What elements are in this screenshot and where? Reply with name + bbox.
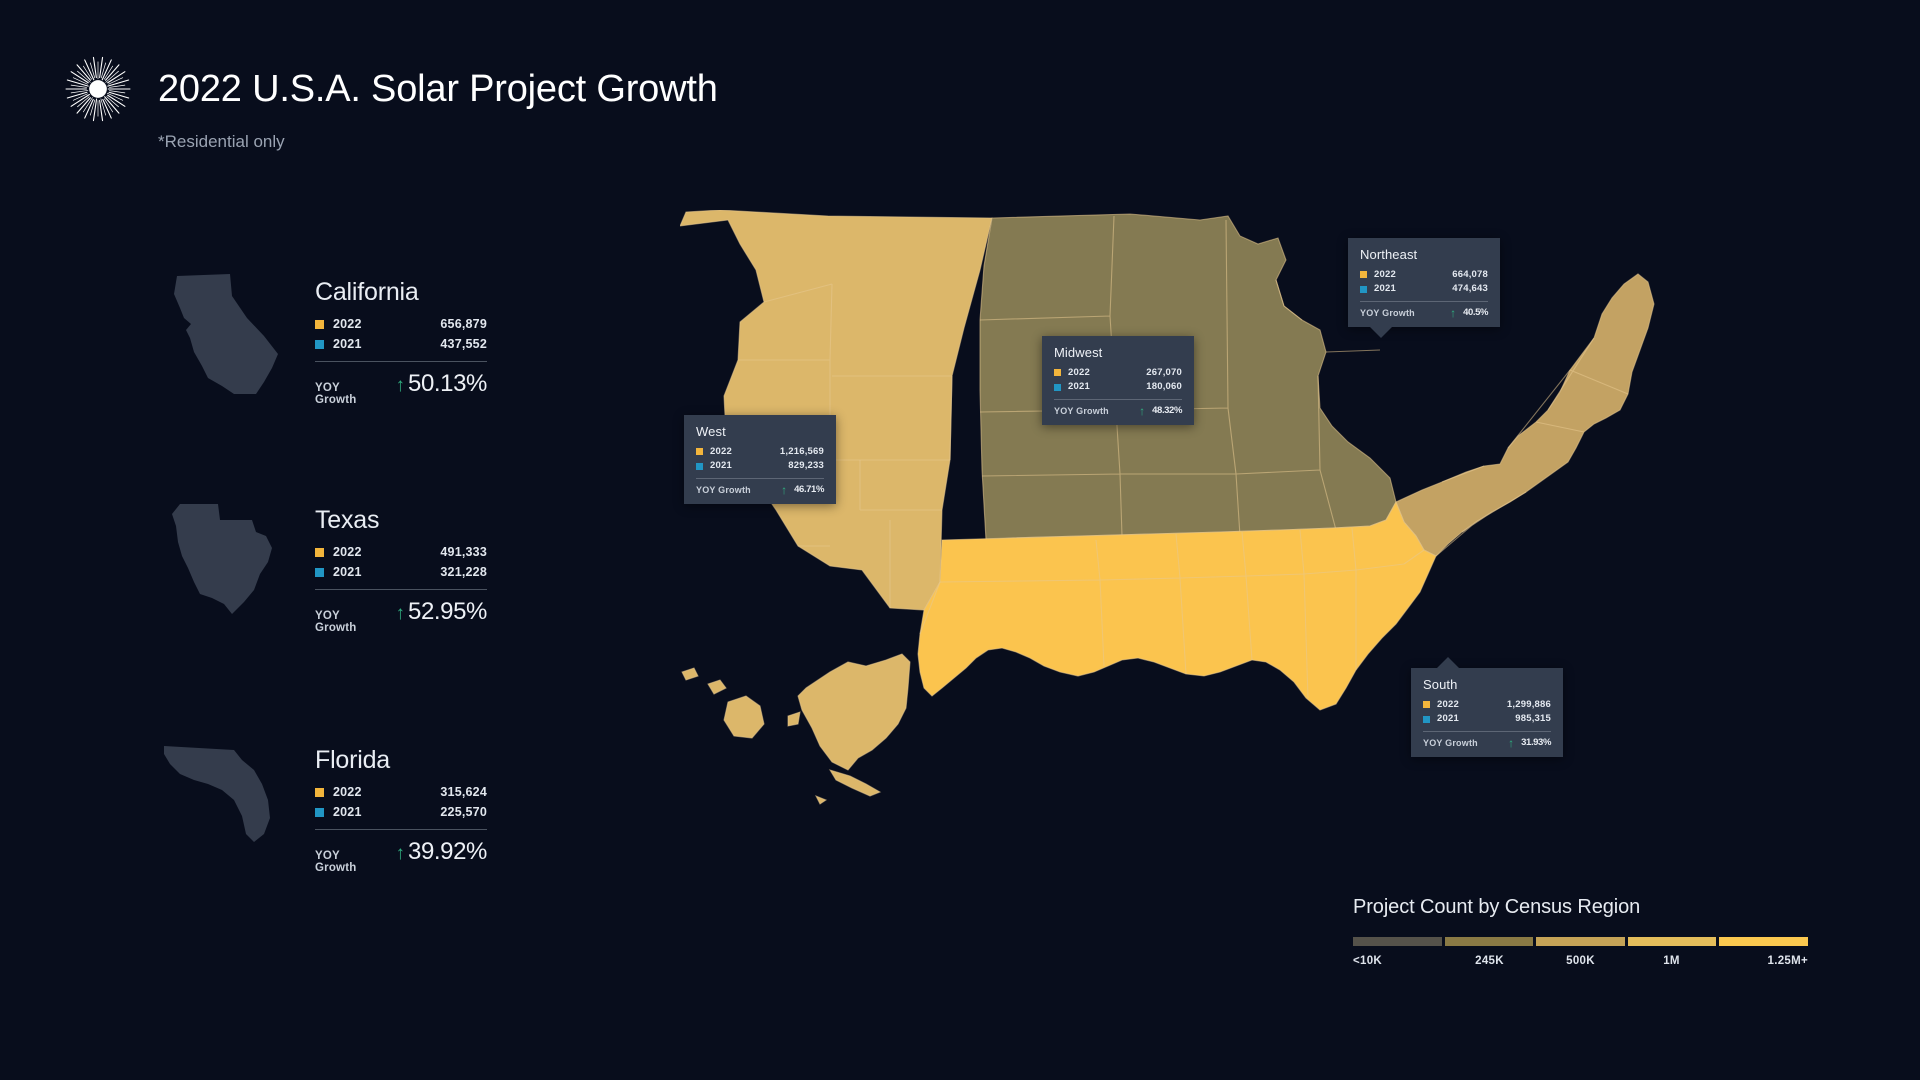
year-label: 2021 (710, 460, 732, 471)
legend-swatch-2021 (315, 340, 324, 349)
legend-swatch-2021 (315, 808, 324, 817)
legend-swatch-0 (1353, 937, 1442, 946)
legend-swatch-2022 (315, 320, 324, 329)
state-name: Texas (315, 506, 487, 535)
legend-tick-labels: <10K245K500K1M1.25M+ (1353, 955, 1808, 967)
year-value: 267,070 (1146, 367, 1182, 378)
state-growth-row: YOY Growth ↑ 39.92% (315, 838, 487, 874)
dashboard-canvas: 2022 U.S.A. Solar Project Growth *Reside… (0, 0, 1920, 1080)
year-label: 2022 (333, 317, 362, 332)
texas-outline-icon (160, 498, 290, 633)
legend-tick-2: 500K (1535, 955, 1626, 967)
tooltip-midwest[interactable]: Midwest 2022 267,070 2021 180,060 YOY Gr… (1042, 336, 1194, 425)
tooltip-row-2022: 2022 1,216,569 (696, 446, 824, 457)
year-value: 474,643 (1452, 283, 1488, 294)
legend-swatch-2022 (1360, 271, 1367, 278)
growth-up-arrow-icon: ↑ (1508, 737, 1514, 749)
year-value: 321,228 (440, 565, 487, 580)
sunburst-logo-icon (64, 55, 132, 123)
year-label: 2022 (333, 545, 362, 560)
legend-title: Project Count by Census Region (1353, 896, 1808, 919)
growth-label: YOY Growth (315, 610, 382, 634)
legend-tick-0: <10K (1353, 955, 1444, 967)
legend-swatch-2022 (1423, 701, 1430, 708)
year-label: 2022 (1437, 699, 1459, 710)
year-value: 491,333 (440, 545, 487, 560)
growth-label: YOY Growth (315, 850, 382, 874)
legend-swatch-4 (1719, 937, 1808, 946)
tooltip-growth-row: YOY Growth ↑ 40.5% (1360, 307, 1488, 319)
growth-up-arrow-icon: ↑ (1139, 405, 1145, 417)
tooltip-region-name: Midwest (1054, 345, 1182, 360)
legend-swatch-2022 (315, 548, 324, 557)
legend-swatch-2021 (1423, 716, 1430, 723)
map-region-west[interactable] (680, 210, 992, 804)
year-value: 315,624 (440, 785, 487, 800)
year-value: 664,078 (1452, 269, 1488, 280)
growth-value: 46.71% (794, 484, 824, 495)
year-label: 2021 (333, 337, 362, 352)
legend-swatch-2022 (1054, 369, 1061, 376)
growth-label: YOY Growth (1423, 738, 1478, 748)
legend-tick-1: 245K (1444, 955, 1535, 967)
growth-up-arrow-icon: ↑ (781, 484, 787, 496)
year-value: 656,879 (440, 317, 487, 332)
page-subtitle: *Residential only (158, 132, 285, 152)
tooltip-row-2022: 2022 1,299,886 (1423, 699, 1551, 710)
growth-value: 31.93% (1521, 737, 1551, 748)
divider (315, 829, 487, 830)
year-value: 1,299,886 (1507, 699, 1551, 710)
legend-swatch-2021 (315, 568, 324, 577)
state-row-2022: 2022 656,879 (315, 317, 487, 332)
tooltip-west[interactable]: West 2022 1,216,569 2021 829,233 YOY Gro… (684, 415, 836, 504)
growth-label: YOY Growth (1054, 406, 1109, 416)
legend-swatch-2022 (315, 788, 324, 797)
growth-label: YOY Growth (1360, 308, 1415, 318)
year-label: 2021 (333, 565, 362, 580)
tooltip-pointer (1370, 327, 1392, 338)
year-label: 2021 (1068, 381, 1090, 392)
year-label: 2021 (1374, 283, 1396, 294)
tooltip-growth-row: YOY Growth ↑ 31.93% (1423, 737, 1551, 749)
growth-value: 40.5% (1463, 307, 1488, 318)
tooltip-south[interactable]: South 2022 1,299,886 2021 985,315 YOY Gr… (1411, 668, 1563, 757)
california-outline-icon (160, 270, 290, 405)
divider (1054, 399, 1182, 400)
divider (315, 589, 487, 590)
growth-value: 52.95% (408, 598, 487, 626)
growth-up-arrow-icon: ↑ (396, 376, 406, 395)
legend-swatch-2021 (696, 463, 703, 470)
year-label: 2022 (1068, 367, 1090, 378)
growth-up-arrow-icon: ↑ (396, 844, 406, 863)
divider (696, 478, 824, 479)
year-label: 2022 (710, 446, 732, 457)
growth-value: 48.32% (1152, 405, 1182, 416)
growth-label: YOY Growth (315, 382, 382, 406)
year-label: 2022 (333, 785, 362, 800)
growth-value: 50.13% (408, 370, 487, 398)
divider (1360, 301, 1488, 302)
year-value: 437,552 (440, 337, 487, 352)
year-label: 2021 (333, 805, 362, 820)
legend-swatch-2022 (696, 448, 703, 455)
tooltip-growth-row: YOY Growth ↑ 48.32% (1054, 405, 1182, 417)
growth-value: 39.92% (408, 838, 487, 866)
tooltip-region-name: South (1423, 677, 1551, 692)
choropleth-map[interactable]: West 2022 1,216,569 2021 829,233 YOY Gro… (680, 210, 1840, 910)
legend-tick-4: 1.25M+ (1717, 955, 1808, 967)
year-value: 1,216,569 (780, 446, 824, 457)
tooltip-pointer (1437, 657, 1459, 668)
state-name: California (315, 278, 487, 307)
year-label: 2021 (1437, 713, 1459, 724)
tooltip-row-2022: 2022 664,078 (1360, 269, 1488, 280)
growth-up-arrow-icon: ↑ (1450, 307, 1456, 319)
legend-color-bar (1353, 937, 1808, 946)
tooltip-row-2021: 2021 985,315 (1423, 713, 1551, 724)
state-growth-row: YOY Growth ↑ 52.95% (315, 598, 487, 634)
florida-outline-icon (160, 738, 290, 873)
legend-swatch-2 (1536, 937, 1625, 946)
divider (315, 361, 487, 362)
legend-swatch-3 (1628, 937, 1717, 946)
tooltip-growth-row: YOY Growth ↑ 46.71% (696, 484, 824, 496)
legend-swatch-2021 (1054, 384, 1061, 391)
tooltip-region-name: West (696, 424, 824, 439)
divider (1423, 731, 1551, 732)
year-value: 225,570 (440, 805, 487, 820)
state-growth-row: YOY Growth ↑ 50.13% (315, 370, 487, 406)
legend-tick-3: 1M (1626, 955, 1717, 967)
year-value: 985,315 (1515, 713, 1551, 724)
tooltip-northeast[interactable]: Northeast 2022 664,078 2021 474,643 YOY … (1348, 238, 1500, 327)
state-row-2022: 2022 491,333 (315, 545, 487, 560)
state-row-2021: 2021 437,552 (315, 337, 487, 352)
tooltip-region-name: Northeast (1360, 247, 1488, 262)
growth-up-arrow-icon: ↑ (396, 604, 406, 623)
year-value: 829,233 (788, 460, 824, 471)
tooltip-row-2021: 2021 180,060 (1054, 381, 1182, 392)
tooltip-row-2021: 2021 474,643 (1360, 283, 1488, 294)
growth-label: YOY Growth (696, 485, 751, 495)
tooltip-row-2022: 2022 267,070 (1054, 367, 1182, 378)
state-row-2021: 2021 225,570 (315, 805, 487, 820)
us-census-region-map[interactable] (680, 210, 1840, 910)
state-name: Florida (315, 746, 487, 775)
year-label: 2022 (1374, 269, 1396, 280)
tooltip-row-2021: 2021 829,233 (696, 460, 824, 471)
year-value: 180,060 (1146, 381, 1182, 392)
page-title: 2022 U.S.A. Solar Project Growth (158, 68, 718, 111)
state-row-2022: 2022 315,624 (315, 785, 487, 800)
state-row-2021: 2021 321,228 (315, 565, 487, 580)
map-legend: Project Count by Census Region <10K245K5… (1353, 896, 1808, 967)
legend-swatch-2021 (1360, 286, 1367, 293)
legend-swatch-1 (1445, 937, 1534, 946)
